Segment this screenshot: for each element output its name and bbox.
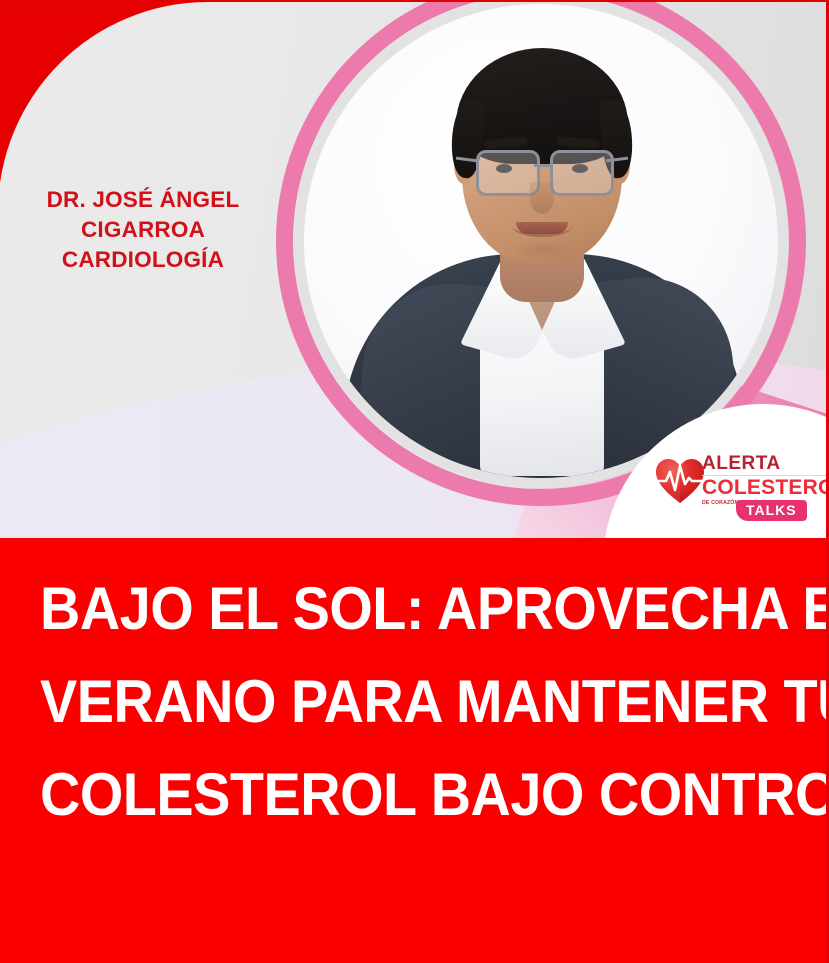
speaker-name-line-1: DR. JOSÉ ÁNGEL [36, 185, 250, 215]
portrait-mouth [516, 222, 568, 234]
speaker-name-block: DR. JOSÉ ÁNGEL CIGARROA CARDIOLOGÍA [36, 185, 250, 275]
brand-logo-wordmark: ALERTA COLESTEROL DE CORAZÓN, HAZTE LA P… [702, 452, 829, 506]
speaker-specialty: CARDIOLOGÍA [36, 245, 250, 275]
speaker-name-line-2: CIGARROA [36, 215, 250, 245]
portrait-eyeglass-lens-right [550, 150, 614, 196]
portrait-chin-shadow [510, 240, 574, 258]
frame-edge-top [0, 0, 829, 2]
heart-pulse-icon [654, 456, 706, 508]
headline-text-block: BAJO EL SOL: APROVECHA EL VERANO PARA MA… [40, 562, 780, 841]
brand-talks-badge: TALKS [736, 500, 807, 521]
portrait-photo-disc [304, 4, 778, 478]
hero-section: DR. JOSÉ ÁNGEL CIGARROA CARDIOLOGÍA [0, 0, 829, 538]
portrait-nose [530, 182, 554, 214]
poster-root: DR. JOSÉ ÁNGEL CIGARROA CARDIOLOGÍA [0, 0, 829, 963]
speaker-portrait [304, 4, 778, 478]
headline-section: BAJO EL SOL: APROVECHA EL VERANO PARA MA… [0, 538, 829, 963]
headline-line-3: COLESTEROL BAJO CONTROL [40, 748, 728, 841]
brand-word-alerta: ALERTA [702, 454, 829, 474]
portrait-eyeglass-bridge [534, 164, 550, 167]
brand-logo: ALERTA COLESTEROL DE CORAZÓN, HAZTE LA P… [654, 452, 829, 522]
brand-word-colesterol: COLESTEROL [702, 477, 829, 498]
headline-line-2: VERANO PARA MANTENER TU [40, 655, 728, 748]
headline-line-1: BAJO EL SOL: APROVECHA EL [40, 562, 728, 655]
